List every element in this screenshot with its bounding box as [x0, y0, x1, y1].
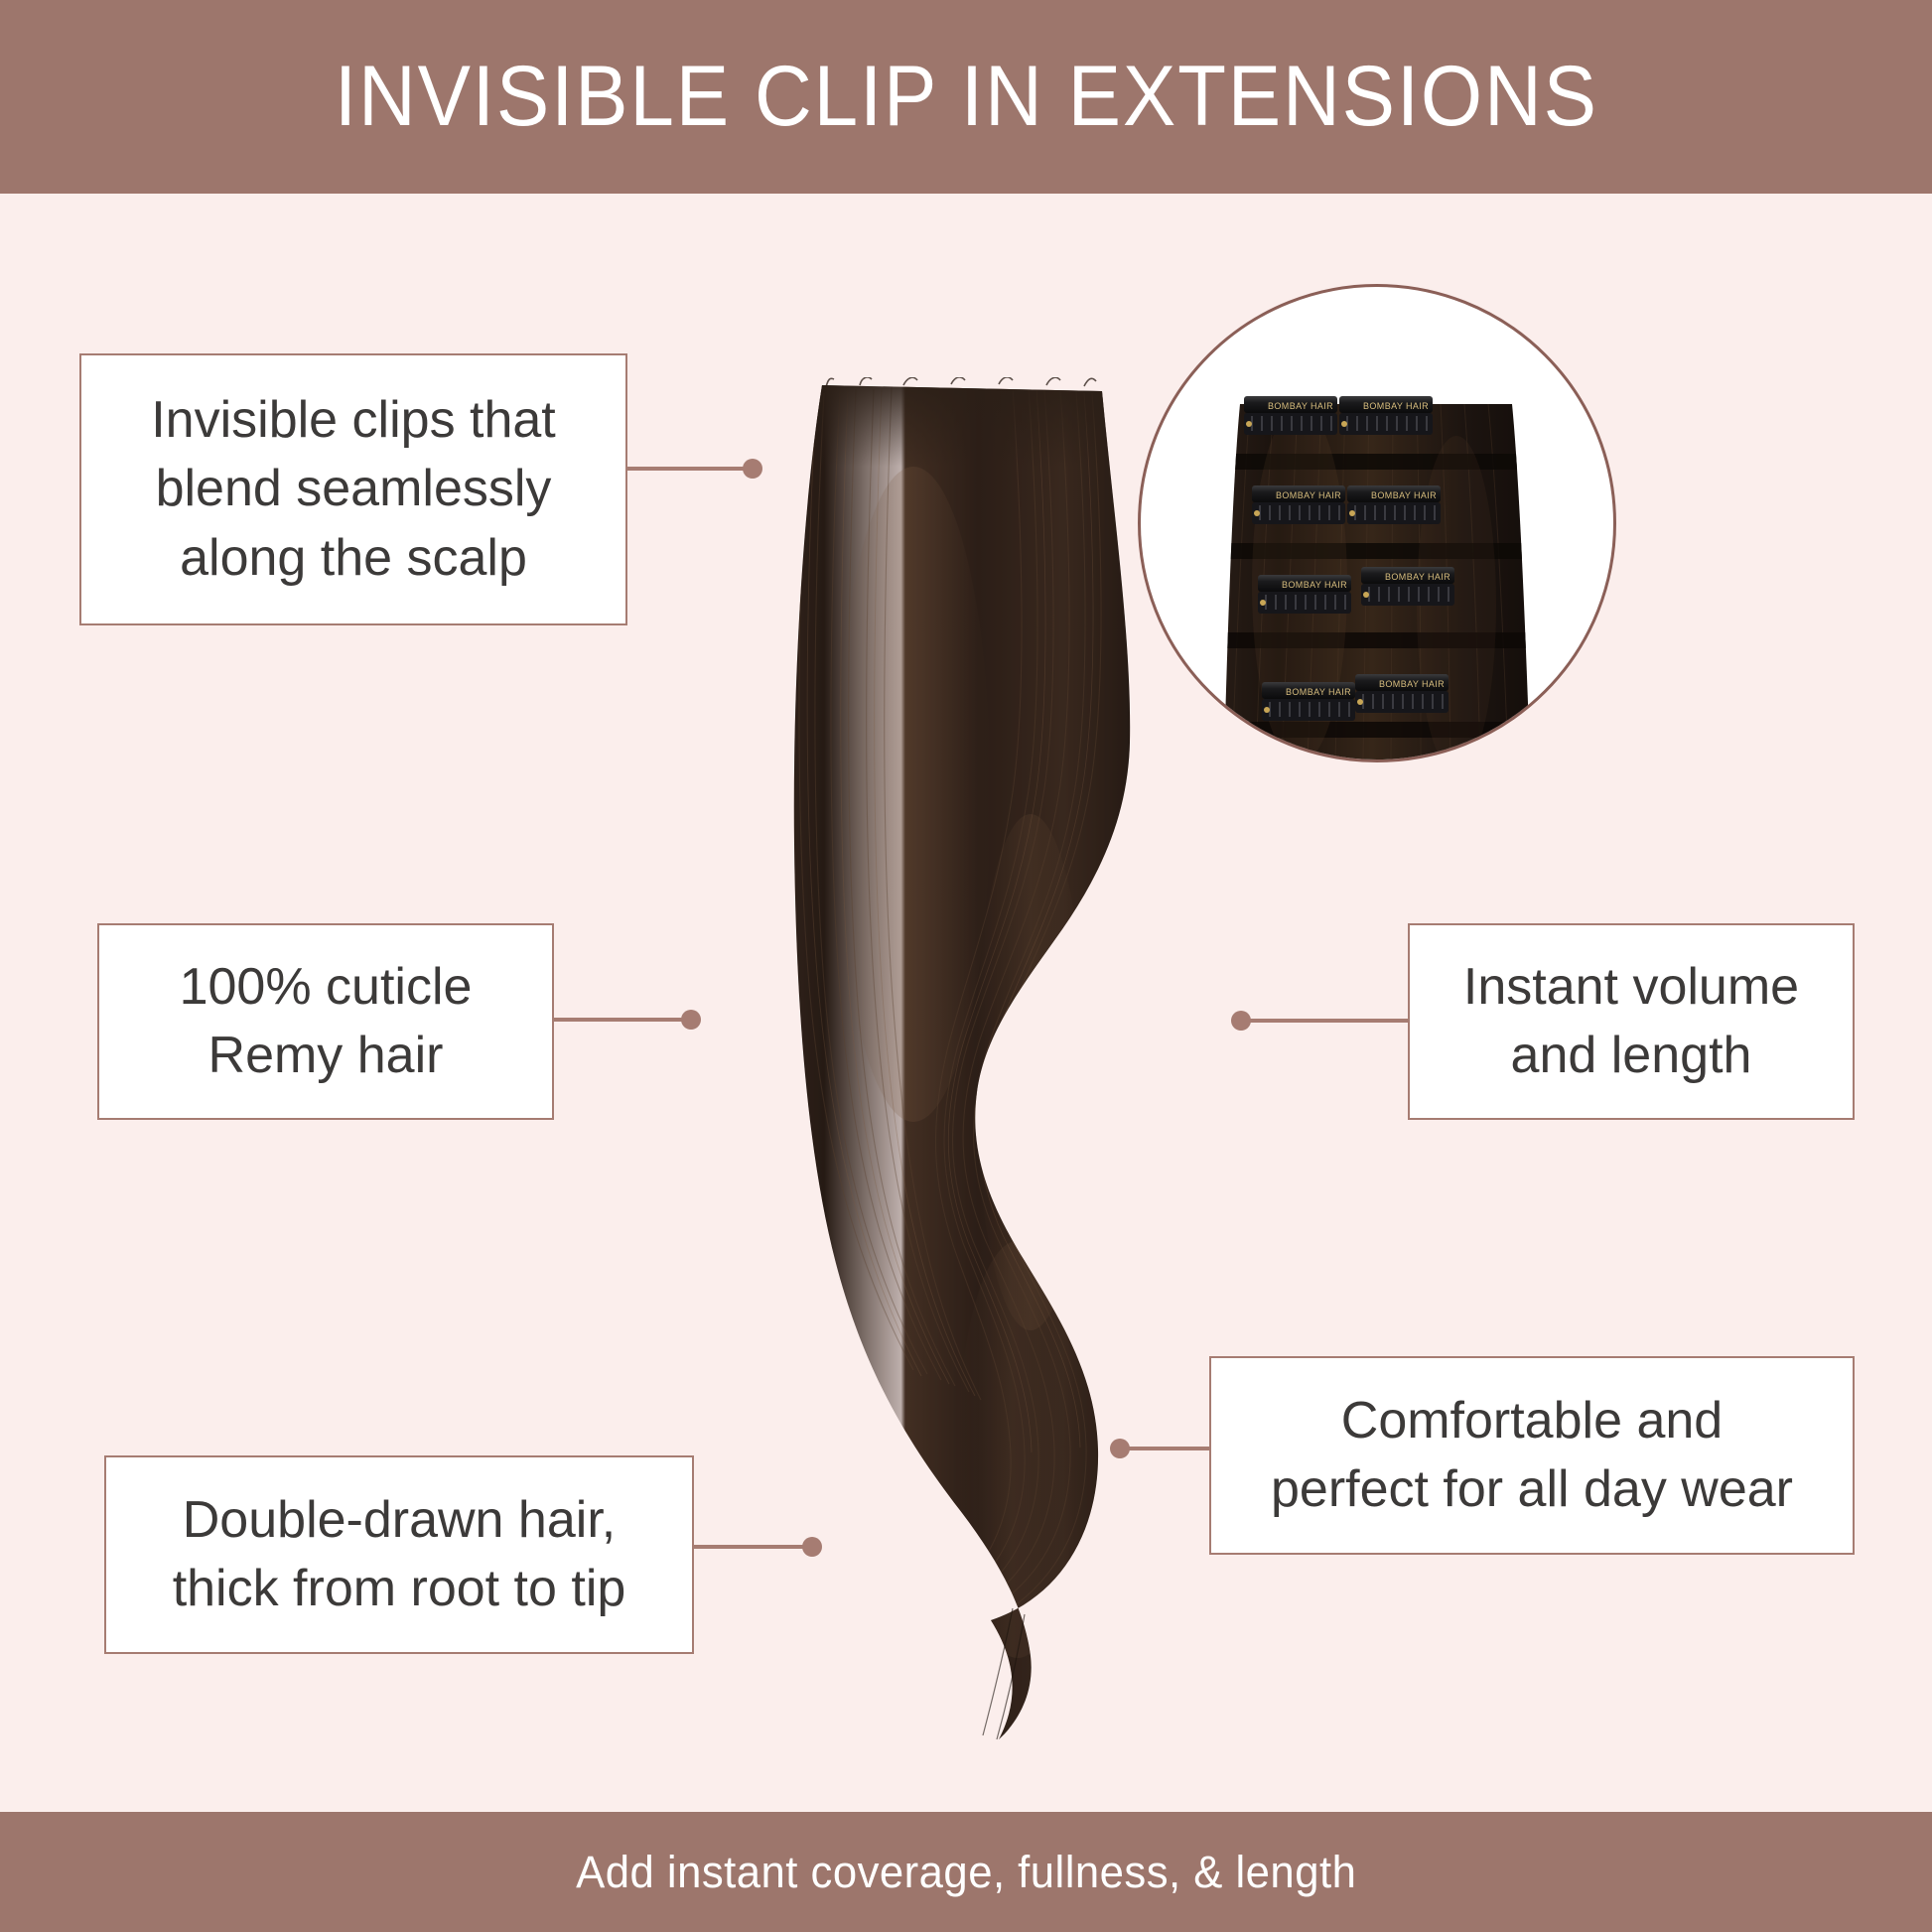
callout-line: Instant volume: [1463, 953, 1799, 1022]
callout-line: blend seamlessly: [151, 455, 556, 523]
connector-line-all-day-wear: [1118, 1447, 1211, 1450]
svg-text:BOMBAY HAIR: BOMBAY HAIR: [1276, 490, 1341, 500]
svg-text:BOMBAY HAIR: BOMBAY HAIR: [1363, 401, 1429, 411]
page-title: INVISIBLE CLIP IN EXTENSIONS: [335, 48, 1598, 146]
clip-piece: BOMBAY HAIR: [1262, 682, 1355, 721]
callout-line: Double-drawn hair,: [173, 1486, 626, 1555]
hair-extension-image: [764, 377, 1191, 1747]
connector-line-remy-hair: [552, 1018, 695, 1022]
clip-piece: BOMBAY HAIR: [1244, 396, 1337, 435]
header-bar: INVISIBLE CLIP IN EXTENSIONS: [0, 0, 1932, 194]
svg-text:BOMBAY HAIR: BOMBAY HAIR: [1379, 679, 1445, 689]
hair-body: [764, 377, 1191, 1747]
callout-line: 100% cuticle: [180, 953, 473, 1022]
clip-piece: BOMBAY HAIR: [1252, 485, 1345, 524]
connector-dot-double-drawn: [802, 1537, 822, 1557]
footer-tagline: Add instant coverage, fullness, & length: [576, 1847, 1356, 1898]
svg-text:BOMBAY HAIR: BOMBAY HAIR: [1385, 572, 1450, 582]
clip-piece: BOMBAY HAIR: [1361, 567, 1454, 606]
footer-bar: Add instant coverage, fullness, & length: [0, 1812, 1932, 1932]
svg-text:BOMBAY HAIR: BOMBAY HAIR: [1282, 580, 1347, 590]
callout-line: Remy hair: [180, 1022, 473, 1090]
connector-line-instant-volume: [1239, 1019, 1410, 1023]
connector-dot-remy-hair: [681, 1010, 701, 1030]
svg-text:BOMBAY HAIR: BOMBAY HAIR: [1371, 490, 1437, 500]
hair-flyaways: [826, 377, 1096, 387]
connector-dot-instant-volume: [1231, 1011, 1251, 1031]
clip-detail-inset: BOMBAY HAIR BOMBAY HAIR: [1138, 284, 1616, 762]
callout-line: thick from root to tip: [173, 1555, 626, 1623]
connector-dot-invisible-clips: [743, 459, 762, 479]
callout-line: and length: [1463, 1022, 1799, 1090]
callout-instant-volume: Instant volume and length: [1408, 923, 1855, 1120]
svg-text:BOMBAY HAIR: BOMBAY HAIR: [1286, 687, 1351, 697]
connector-line-double-drawn: [692, 1545, 816, 1549]
callout-remy-hair: 100% cuticle Remy hair: [97, 923, 554, 1120]
callout-line: Invisible clips that: [151, 386, 556, 455]
callout-all-day-wear: Comfortable and perfect for all day wear: [1209, 1356, 1855, 1555]
connector-line-invisible-clips: [625, 467, 755, 471]
svg-text:BOMBAY HAIR: BOMBAY HAIR: [1268, 401, 1333, 411]
callout-double-drawn: Double-drawn hair, thick from root to ti…: [104, 1455, 694, 1654]
connector-dot-all-day-wear: [1110, 1439, 1130, 1458]
callout-line: perfect for all day wear: [1271, 1455, 1793, 1524]
clip-piece: BOMBAY HAIR: [1355, 674, 1449, 713]
clip-piece: BOMBAY HAIR: [1258, 575, 1351, 614]
infographic-canvas: INVISIBLE CLIP IN EXTENSIONS: [0, 0, 1932, 1932]
callout-invisible-clips: Invisible clips that blend seamlessly al…: [79, 353, 627, 625]
clip-piece: BOMBAY HAIR: [1347, 485, 1441, 524]
clip-piece: BOMBAY HAIR: [1339, 396, 1433, 435]
callout-line: along the scalp: [151, 524, 556, 593]
callout-line: Comfortable and: [1271, 1387, 1793, 1455]
